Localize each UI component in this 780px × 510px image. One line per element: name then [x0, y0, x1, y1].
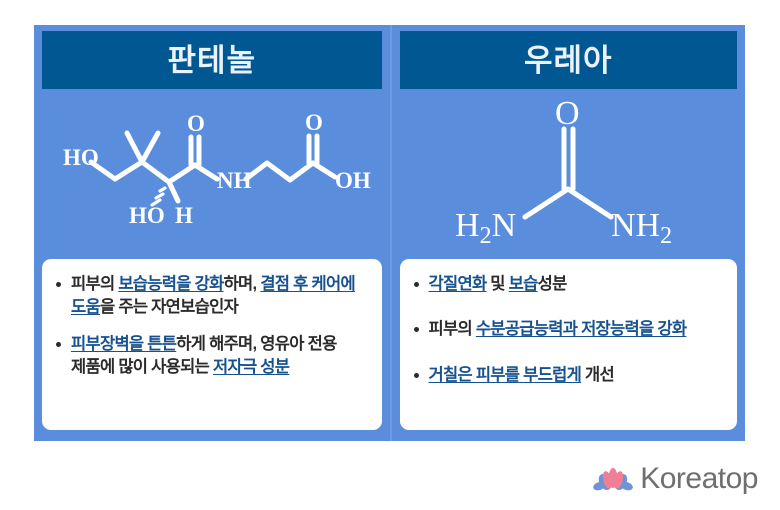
- list-item: 피부의 수분공급능력과 저장능력을 강화: [412, 318, 726, 341]
- bullet-text-highlight: 거칠은 피부를 부드럽게: [429, 366, 582, 384]
- urea-structure-icon: O H2N NH2: [403, 89, 733, 259]
- panel-header-urea: 우레아: [400, 31, 738, 89]
- bullet-list-panthenol: 피부의 보습능력을 강화하며, 결점 후 케어에 도움을 주는 자연보습인자 피…: [54, 273, 370, 380]
- molecule-area-urea: O H2N NH2: [400, 89, 738, 259]
- bullet-text-highlight: 수분공급능력과 저장능력을 강화: [476, 320, 687, 338]
- bullet-text-segment: 개선: [581, 366, 614, 384]
- panel-title-urea: 우레아: [524, 45, 613, 76]
- molecule-area-panthenol: HO O NH O OH HO H: [42, 89, 382, 259]
- bullet-text-highlight: 저자극 성분: [213, 358, 289, 376]
- bullet-text-highlight: 각질연화: [429, 275, 487, 293]
- label-h2n: H2N: [455, 207, 516, 249]
- panel-header-panthenol: 판테놀: [42, 31, 382, 89]
- panel-panthenol: 판테놀: [34, 25, 390, 441]
- bullet-text-segment: 및: [486, 275, 508, 293]
- label-h-stereo: H: [175, 203, 193, 228]
- panthenol-structure-icon: HO O NH O OH HO H: [47, 89, 377, 259]
- info-card-urea: 각질연화 및 보습성분 피부의 수분공급능력과 저장능력을 강화 거칠은 피부를…: [400, 259, 738, 430]
- panel-urea: 우레아 O H2N NH2: [390, 25, 746, 441]
- bullet-text-segment: 피부의: [71, 275, 118, 293]
- list-item: 피부의 보습능력을 강화하며, 결점 후 케어에 도움을 주는 자연보습인자: [54, 273, 370, 320]
- bullet-text-segment: 피부의: [429, 320, 476, 338]
- bullet-text-highlight: 피부장벽을 튼튼: [71, 335, 176, 353]
- list-item: 피부장벽을 튼튼하게 해주며, 영유아 전용 제품에 많이 사용되는 저자극 성…: [54, 333, 370, 380]
- brand-name: Koreatop: [640, 464, 758, 494]
- label-nh: NH: [217, 168, 252, 193]
- lotus-flower-icon: [593, 462, 633, 496]
- bullet-text-highlight: 보습능력을 강화: [118, 275, 223, 293]
- panel-title-panthenol: 판테놀: [167, 45, 256, 76]
- label-oh: OH: [335, 168, 371, 193]
- bullet-list-urea: 각질연화 및 보습성분 피부의 수분공급능력과 저장능력을 강화 거칠은 피부를…: [412, 273, 726, 387]
- label-o-carbonyl: O: [555, 95, 580, 132]
- brand-logo: Koreatop: [593, 462, 758, 496]
- label-o-amide: O: [187, 111, 205, 136]
- bullet-text-segment: 성분: [538, 275, 567, 293]
- label-o-acid: O: [305, 110, 323, 135]
- info-card-panthenol: 피부의 보습능력을 강화하며, 결점 후 케어에 도움을 주는 자연보습인자 피…: [42, 259, 382, 430]
- list-item: 각질연화 및 보습성분: [412, 273, 726, 296]
- comparison-board: 판테놀: [34, 25, 745, 441]
- label-nh2: NH2: [611, 207, 672, 249]
- bullet-text-segment: 하며,: [224, 275, 261, 293]
- label-ho-left: HO: [63, 145, 99, 170]
- bullet-text-segment: 을 주는 자연보습인자: [100, 298, 238, 316]
- bullet-text-highlight: 보습: [509, 275, 538, 293]
- list-item: 거칠은 피부를 부드럽게 개선: [412, 364, 726, 387]
- label-ho-stereo: HO: [129, 203, 165, 228]
